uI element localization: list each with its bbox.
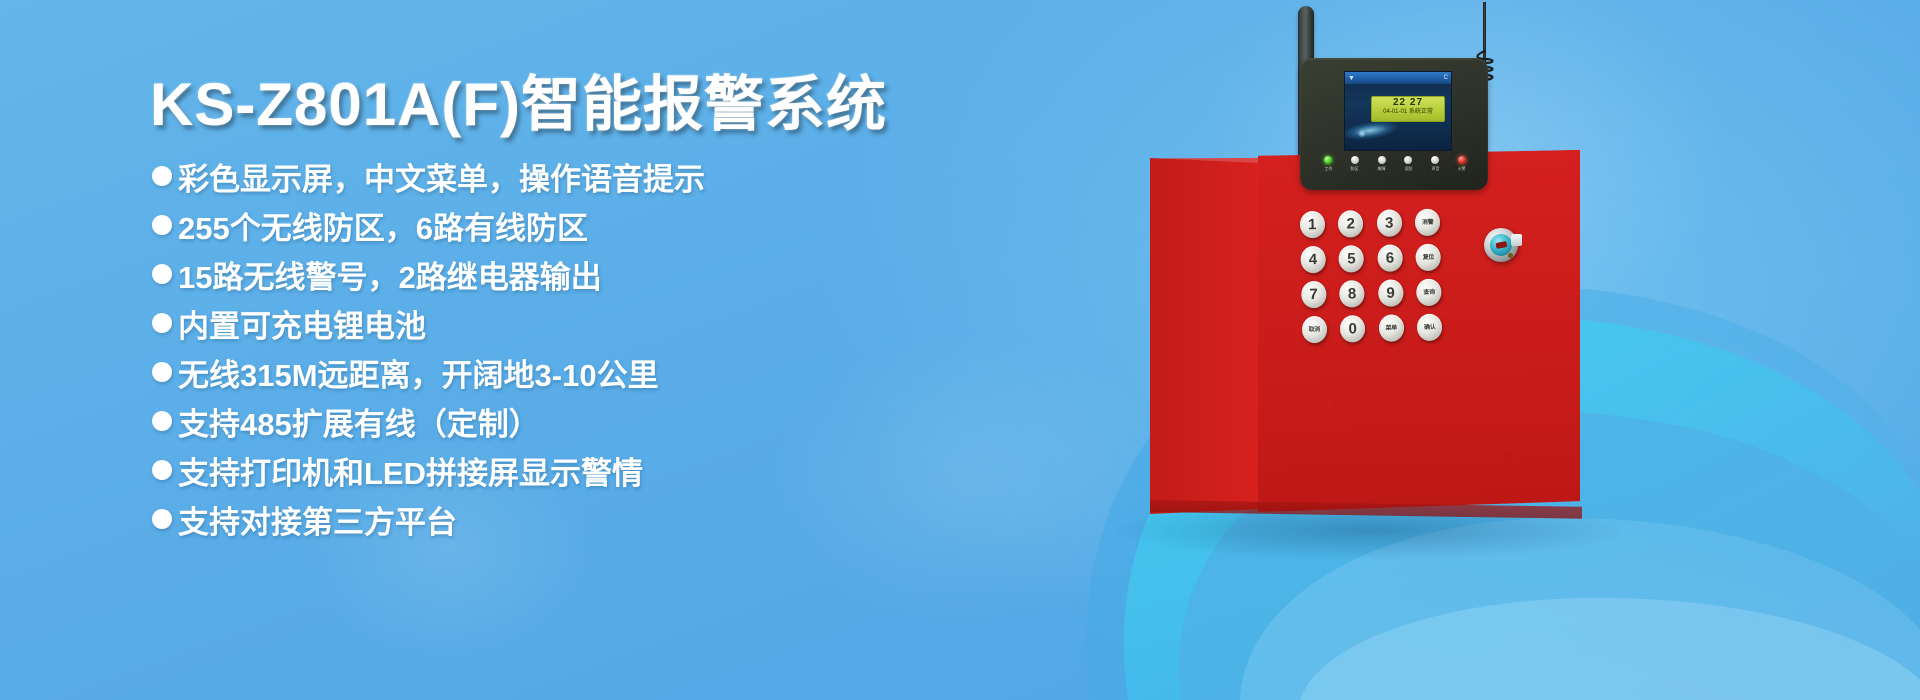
led-fault-icon (1378, 156, 1386, 164)
key-2[interactable]: 2 (1338, 210, 1364, 237)
lcd-time: 22 27 (1372, 97, 1444, 108)
led-sound-icon (1431, 156, 1439, 164)
led-indicator: 故障 (1370, 156, 1394, 171)
key-silence[interactable]: 消警 (1415, 209, 1441, 236)
list-item: 15路无线警号，2路继电器输出 (152, 250, 705, 298)
enclosure-side-face (1150, 158, 1260, 514)
list-item: 支持对接第三方平台 (152, 495, 705, 543)
list-item: 255个无线防区，6路有线防区 (152, 201, 705, 249)
feature-label: 支持485扩展有线（定制） (178, 399, 540, 444)
feature-list: 彩色显示屏，中文菜单，操作语音提示 255个无线防区，6路有线防区 15路无线警… (152, 152, 705, 544)
lock-screw-icon (1508, 253, 1513, 258)
led-indicator: 工作 (1316, 156, 1340, 171)
key-4[interactable]: 4 (1300, 246, 1326, 273)
lcd-status: 系统正常 (1409, 109, 1433, 115)
keypad[interactable]: 1 2 3 消警 4 5 6 复位 7 8 9 查询 取消 0 菜单 确认 (1295, 207, 1448, 346)
alarm-control-panel-device: ▼ C 22 27 04-01-01 系统正常 工作 (1150, 0, 1670, 660)
filled-circle-bullet-icon (152, 313, 172, 333)
product-banner: KS-Z801A(F)智能报警系统 彩色显示屏，中文菜单，操作语音提示 255个… (0, 0, 1920, 700)
list-item: 支持485扩展有线（定制） (152, 397, 705, 445)
filled-circle-bullet-icon (152, 362, 172, 382)
filled-circle-bullet-icon (152, 460, 172, 480)
lcd-screen[interactable]: ▼ C 22 27 04-01-01 系统正常 (1344, 71, 1452, 151)
led-indicator: 火警 (1450, 156, 1474, 171)
led-label: 故障 (1378, 166, 1386, 171)
led-armed-icon (1404, 156, 1412, 164)
led-label: 防区 (1351, 166, 1359, 171)
led-label: 火警 (1458, 166, 1466, 171)
lcd-date-status: 04-01-01 系统正常 (1372, 108, 1444, 117)
key-cancel[interactable]: 取消 (1302, 316, 1328, 343)
key-reset[interactable]: 复位 (1416, 244, 1442, 271)
led-indicator: 设防 (1396, 156, 1420, 171)
background-glow-mid (760, 330, 1180, 630)
filled-circle-bullet-icon (152, 264, 172, 284)
led-label: 设防 (1404, 166, 1412, 171)
filled-circle-bullet-icon (152, 166, 172, 186)
feature-label: 15路无线警号，2路继电器输出 (178, 252, 602, 297)
led-indicator-row: 工作 防区 故障 设防 声音 (1316, 156, 1474, 184)
lcd-status-box: 22 27 04-01-01 系统正常 (1371, 96, 1445, 122)
led-label: 工作 (1324, 166, 1332, 171)
led-work-icon (1324, 156, 1332, 164)
key-8[interactable]: 8 (1339, 280, 1365, 307)
list-item: 彩色显示屏，中文菜单，操作语音提示 (152, 152, 705, 200)
feature-label: 内置可充电锂电池 (178, 301, 426, 346)
led-indicator: 声音 (1423, 156, 1447, 171)
list-item: 内置可充电锂电池 (152, 299, 705, 347)
feature-label: 支持打印机和LED拼接屏显示警情 (178, 448, 643, 493)
filled-circle-bullet-icon (152, 509, 172, 529)
led-fire-icon (1458, 156, 1466, 164)
led-label: 声音 (1431, 166, 1439, 171)
feature-label: 支持对接第三方平台 (178, 497, 457, 542)
key-1[interactable]: 1 (1299, 211, 1325, 238)
key-9[interactable]: 9 (1378, 279, 1404, 306)
key-6[interactable]: 6 (1377, 244, 1403, 271)
key-menu[interactable]: 菜单 (1378, 314, 1404, 341)
lcd-date: 04-01-01 (1383, 109, 1407, 115)
page-title: KS-Z801A(F)智能报警系统 (150, 56, 887, 143)
feature-label: 255个无线防区，6路有线防区 (178, 203, 588, 248)
lcd-corner-label: C (1444, 75, 1448, 81)
list-item: 支持打印机和LED拼接屏显示警情 (152, 446, 705, 494)
feature-label: 无线315M远距离，开阔地3-10公里 (178, 350, 659, 395)
list-item: 无线315M远距离，开阔地3-10公里 (152, 348, 705, 396)
lock-keyhole-icon (1495, 241, 1507, 249)
key-5[interactable]: 5 (1339, 245, 1365, 272)
key-3[interactable]: 3 (1376, 209, 1402, 236)
key-confirm[interactable]: 确认 (1417, 314, 1443, 341)
signal-icon: ▼ (1348, 75, 1355, 82)
key-query[interactable]: 查询 (1416, 279, 1442, 306)
lcd-bezel: ▼ C 22 27 04-01-01 系统正常 工作 (1300, 58, 1488, 190)
led-zone-icon (1351, 156, 1359, 164)
lcd-title-bar: ▼ C (1345, 72, 1451, 84)
filled-circle-bullet-icon (152, 411, 172, 431)
key-lock-cylinder[interactable] (1484, 228, 1518, 262)
lock-tab-icon (1511, 234, 1522, 246)
feature-label: 彩色显示屏，中文菜单，操作语音提示 (178, 154, 705, 199)
filled-circle-bullet-icon (152, 215, 172, 235)
key-7[interactable]: 7 (1301, 281, 1327, 308)
key-0[interactable]: 0 (1340, 315, 1366, 342)
led-indicator: 防区 (1343, 156, 1367, 171)
